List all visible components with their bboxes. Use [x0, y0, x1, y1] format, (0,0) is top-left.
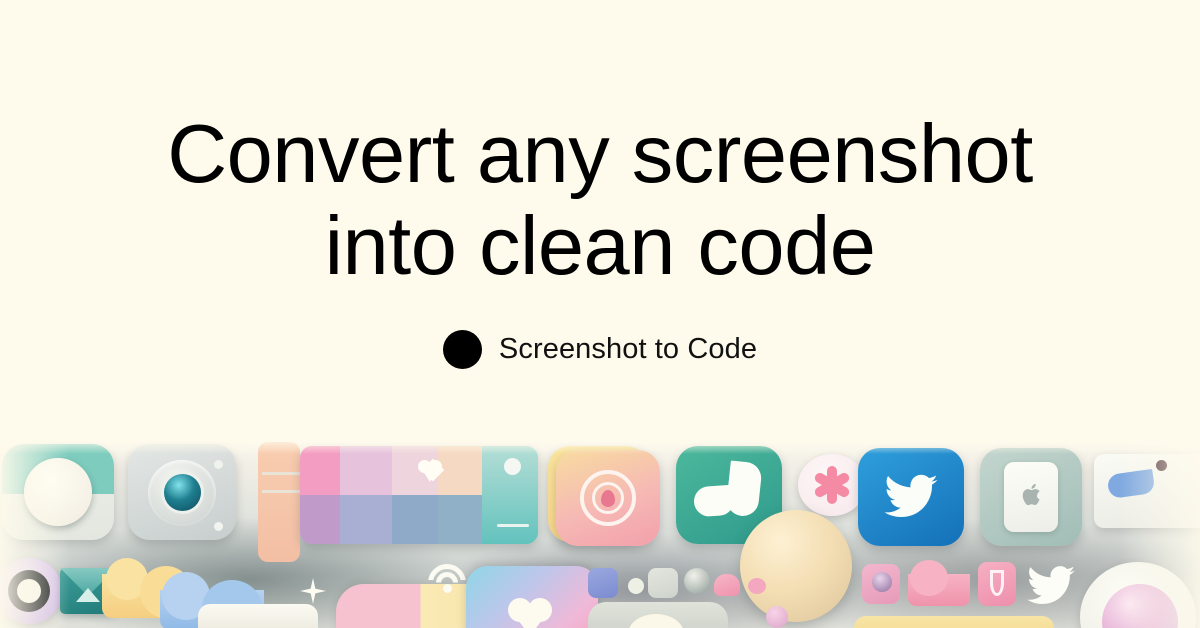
brand-name: Screenshot to Code	[499, 333, 757, 366]
strip-top-fade	[0, 438, 1200, 454]
decorative-icon-strip	[0, 438, 1200, 628]
white-panel-lower	[198, 604, 318, 628]
headline-line-2: into clean code	[167, 200, 1033, 292]
strip-artwork	[0, 438, 1200, 628]
photo-chip-icon	[648, 568, 678, 598]
mint-panel-line	[497, 524, 529, 527]
og-preview-card: Convert any screenshot into clean code S…	[0, 0, 1200, 628]
beats-chip-glyph-icon	[990, 570, 1004, 596]
mint-panel-dot-icon	[504, 458, 521, 475]
twitter-bird-glyph-icon	[876, 468, 946, 526]
pink-dot-chip-icon	[748, 578, 766, 594]
cloud-icon-pink-puff	[910, 560, 948, 596]
pink-small-sphere	[766, 606, 788, 628]
camera-lens-glass-icon	[164, 474, 201, 511]
asterisk-icon	[812, 466, 852, 504]
strip-left-fade	[0, 438, 70, 628]
wifi-icon	[428, 564, 466, 594]
blue-chip-icon	[588, 568, 618, 598]
pink-heart-chip-icon	[714, 574, 740, 596]
hero-section: Convert any screenshot into clean code S…	[0, 0, 1200, 438]
twitter-bird-white-icon	[1020, 560, 1082, 612]
camera-dot-top-icon	[214, 460, 223, 469]
camera-chip-icon	[684, 568, 710, 594]
purple-chip-inner-icon	[872, 572, 892, 592]
yellow-bottom-bar	[854, 616, 1054, 628]
apple-icon-glyph	[1016, 480, 1046, 510]
strip-right-fade	[1120, 438, 1200, 628]
camera-dot-bottom-icon	[214, 522, 223, 531]
location-pin-dot-icon	[601, 490, 615, 507]
peach-column	[258, 442, 300, 562]
brand-logo-icon	[443, 330, 482, 369]
page-title: Convert any screenshot into clean code	[167, 108, 1033, 292]
headline-line-1: Convert any screenshot	[167, 108, 1033, 200]
cream-sphere	[740, 510, 852, 622]
brand-row: Screenshot to Code	[443, 330, 757, 369]
small-dot-icon	[628, 578, 644, 594]
